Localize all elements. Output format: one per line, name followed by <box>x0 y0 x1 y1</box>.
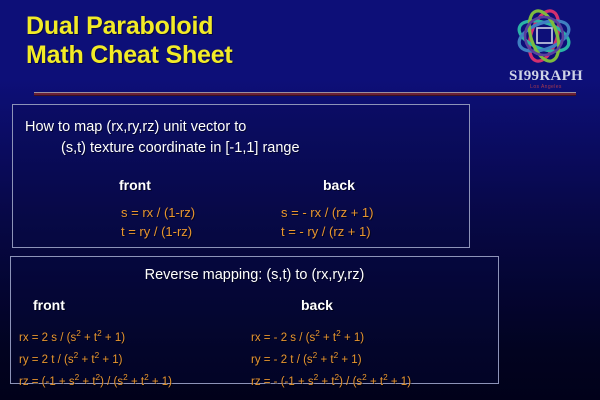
forward-intro-line-1: How to map (rx,ry,rz) unit vector to <box>25 117 300 138</box>
reverse-back-ry: ry = - 2 t / (s2 + t2 + 1) <box>251 347 411 369</box>
reverse-back-heading: back <box>301 297 333 313</box>
reverse-front-ry: ry = 2 t / (s2 + t2 + 1) <box>19 347 172 369</box>
forward-mapping-box: How to map (rx,ry,rz) unit vector to (s,… <box>12 104 470 248</box>
title-line-2: Math Cheat Sheet <box>26 41 233 70</box>
rz-front-part-c: ) / (s <box>100 375 123 387</box>
rx-front-part-b: + t <box>81 332 97 344</box>
rz-back-part-b: + t <box>318 375 334 387</box>
ry-back-part-b: + t <box>317 354 333 366</box>
reverse-back-rz: rz = - (-1 + s2 + t2) / (s2 + t2 + 1) <box>251 369 411 391</box>
reverse-front-heading: front <box>33 297 65 313</box>
page-title: Dual Paraboloid Math Cheat Sheet <box>26 12 233 70</box>
siggraph-logo: SI99RAPH Los Angeles <box>492 6 596 94</box>
rz-back-part-c: ) / (s <box>339 375 362 387</box>
rx-back-part-a: rx = - 2 s / (s <box>251 332 315 344</box>
rz-front-part-a: rz = (-1 + s <box>19 375 75 387</box>
forward-intro-line-2: (s,t) texture coordinate in [-1,1] range <box>25 138 300 159</box>
forward-front-s: s = rx / (1-rz) <box>121 203 195 222</box>
rz-front-part-e: + 1) <box>149 375 172 387</box>
ry-back-part-a: ry = - 2 t / (s <box>251 354 313 366</box>
reverse-back-equations: rx = - 2 s / (s2 + t2 + 1) ry = - 2 t / … <box>251 325 411 390</box>
reverse-front-rz: rz = (-1 + s2 + t2) / (s2 + t2 + 1) <box>19 369 172 391</box>
rz-front-part-b: + t <box>79 375 95 387</box>
ry-back-part-c: + 1) <box>338 354 361 366</box>
forward-front-heading: front <box>119 177 151 193</box>
logo-location: Los Angeles <box>498 84 594 90</box>
reverse-front-rx: rx = 2 s / (s2 + t2 + 1) <box>19 325 172 347</box>
rx-back-part-c: + 1) <box>341 332 364 344</box>
logo-wordmark: SI99RAPH <box>498 68 594 85</box>
ry-front-part-c: + 1) <box>99 354 122 366</box>
forward-front-t: t = ry / (1-rz) <box>121 222 195 241</box>
logo-rings-icon <box>492 6 596 70</box>
forward-back-heading: back <box>323 177 355 193</box>
reverse-back-rx: rx = - 2 s / (s2 + t2 + 1) <box>251 325 411 347</box>
rx-front-part-c: + 1) <box>102 332 125 344</box>
rx-front-part-a: rx = 2 s / (s <box>19 332 76 344</box>
ry-front-part-a: ry = 2 t / (s <box>19 354 74 366</box>
reverse-mapping-title: Reverse mapping: (s,t) to (rx,ry,rz) <box>11 267 498 283</box>
rz-front-part-d: + t <box>128 375 144 387</box>
forward-back-equations: s = - rx / (rz + 1) t = - ry / (rz + 1) <box>281 203 373 241</box>
reverse-mapping-box: Reverse mapping: (s,t) to (rx,ry,rz) fro… <box>10 256 499 384</box>
ry-front-part-b: + t <box>78 354 94 366</box>
forward-back-t: t = - ry / (rz + 1) <box>281 222 373 241</box>
slide-canvas: Dual Paraboloid Math Cheat Sheet SI99RAP… <box>0 0 600 400</box>
rx-back-part-b: + t <box>320 332 336 344</box>
rz-back-part-a: rz = - (-1 + s <box>251 375 314 387</box>
rz-back-part-e: + 1) <box>388 375 411 387</box>
forward-back-s: s = - rx / (rz + 1) <box>281 203 373 222</box>
rz-back-part-d: + t <box>367 375 383 387</box>
reverse-front-equations: rx = 2 s / (s2 + t2 + 1) ry = 2 t / (s2 … <box>19 325 172 390</box>
title-line-1: Dual Paraboloid <box>26 12 233 41</box>
forward-intro: How to map (rx,ry,rz) unit vector to (s,… <box>25 117 300 159</box>
forward-front-equations: s = rx / (1-rz) t = ry / (1-rz) <box>121 203 195 241</box>
